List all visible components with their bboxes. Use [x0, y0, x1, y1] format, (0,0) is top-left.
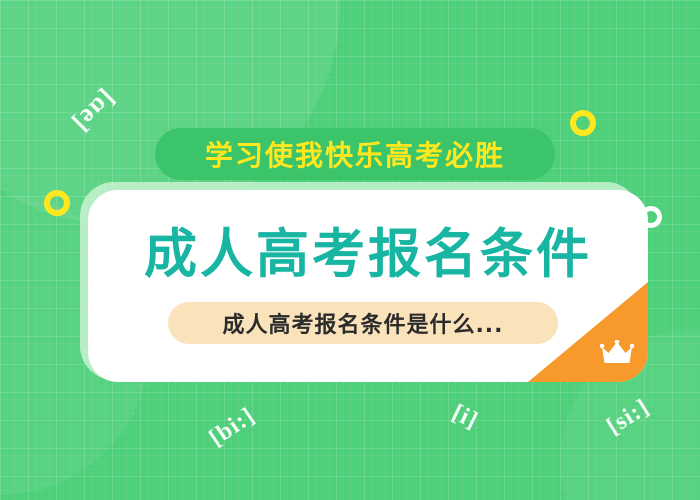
subtitle-text: 成人高考报名条件是什么... [222, 307, 503, 339]
page-title: 成人高考报名条件 [88, 212, 648, 288]
main-card: 成人高考报名条件 成人高考报名条件是什么... [88, 190, 648, 382]
slogan-banner: 学习使我快乐高考必胜 [155, 128, 555, 180]
phonetic-ae-decoration: [ɑe] [66, 83, 121, 138]
phonetic-i-decoration: [i] [447, 400, 482, 436]
slogan-banner-text: 学习使我快乐高考必胜 [205, 134, 505, 174]
poster-canvas: [ɑe] [bi:] [i] [si:] 学习使我快乐高考必胜 成人高考报名条件… [0, 0, 700, 500]
ring-yellow-top-icon [570, 110, 596, 136]
phonetic-bi-decoration: [bi:] [205, 403, 261, 453]
phonetic-si-decoration: [si:] [602, 394, 654, 441]
crown-icon [600, 340, 634, 366]
subtitle-pill: 成人高考报名条件是什么... [168, 302, 558, 344]
ring-yellow-left-icon [44, 190, 70, 216]
corner-accent [528, 282, 648, 382]
